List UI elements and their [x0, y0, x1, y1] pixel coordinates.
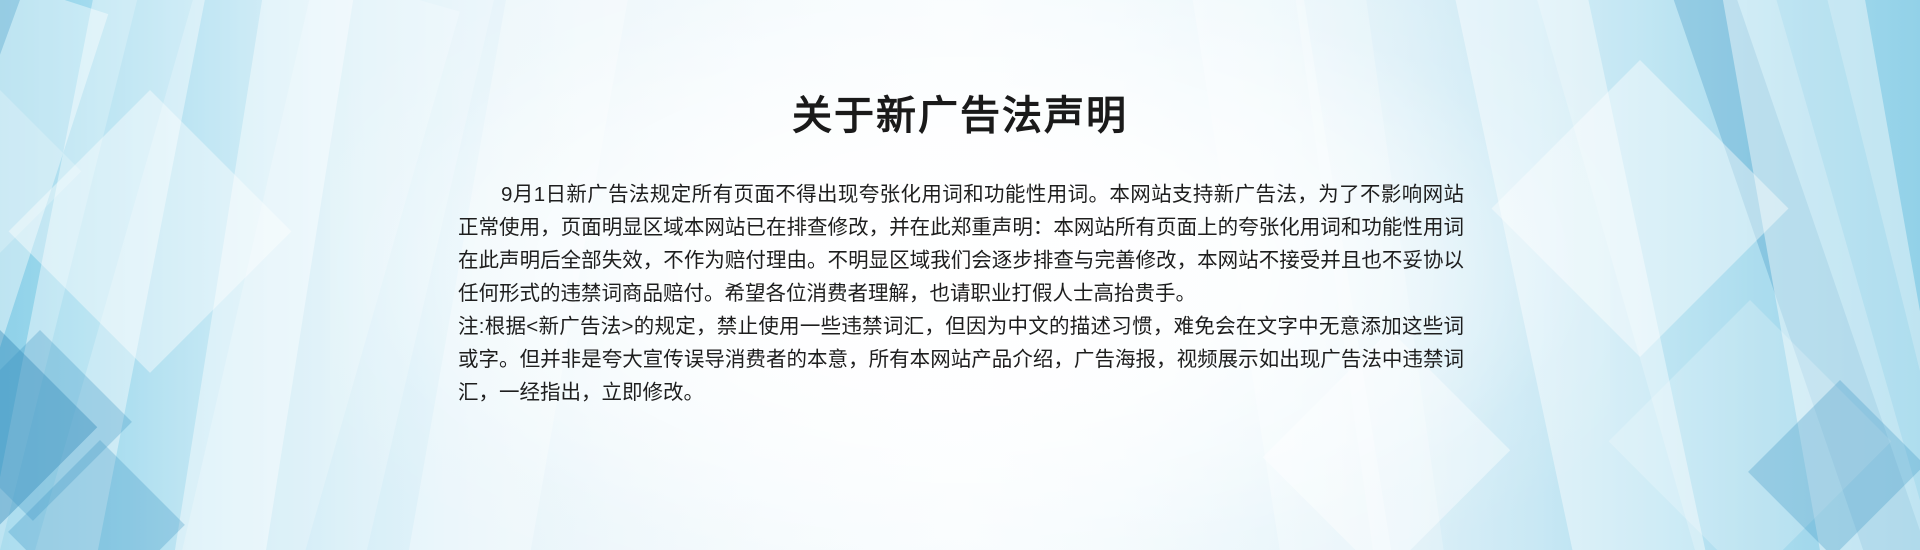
disclaimer-body: 9月1日新广告法规定所有页面不得出现夸张化用词和功能性用词。本网站支持新广告法，… — [458, 178, 1464, 409]
page-title: 关于新广告法声明 — [0, 92, 1920, 140]
disclaimer-paragraph-note: 注:根据<新广告法>的规定，禁止使用一些违禁词汇，但因为中文的描述习惯，难免会在… — [458, 310, 1464, 409]
advertising-law-disclaimer-banner: 关于新广告法声明 9月1日新广告法规定所有页面不得出现夸张化用词和功能性用词。本… — [0, 0, 1920, 550]
disclaimer-paragraph-main: 9月1日新广告法规定所有页面不得出现夸张化用词和功能性用词。本网站支持新广告法，… — [458, 178, 1464, 310]
banner-content: 关于新广告法声明 9月1日新广告法规定所有页面不得出现夸张化用词和功能性用词。本… — [0, 0, 1920, 550]
